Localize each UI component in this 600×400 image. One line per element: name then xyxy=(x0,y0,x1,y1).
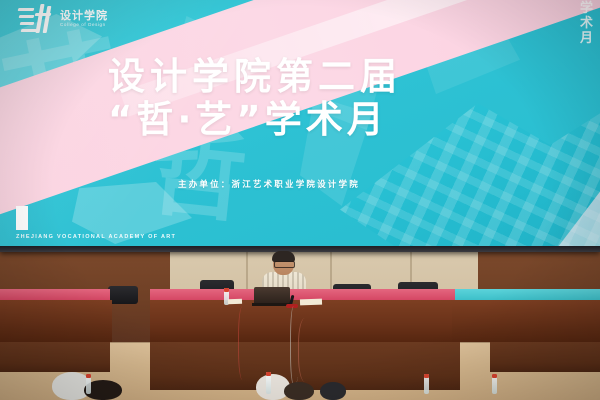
corner-text-line3: 月 xyxy=(580,32,594,47)
water-bottle xyxy=(424,374,429,394)
paper-sheet xyxy=(228,299,242,304)
zhejiang-character-mark-icon xyxy=(18,4,54,34)
slide-subtitle: 主办单位：浙江艺术职业学院设计学院 xyxy=(178,178,360,190)
laptop-screen xyxy=(254,287,290,304)
stage-front-left xyxy=(0,342,110,372)
logo-name-en: College of Design xyxy=(60,22,108,27)
floor-cable xyxy=(238,306,249,380)
headline-line-1: 设计学院第二届 xyxy=(108,58,538,97)
stage-front-right xyxy=(490,342,600,372)
projection-screen: 艺 哲 设计学院 College of Design xyxy=(0,0,600,248)
slide-headline: 设计学院第二届 “哲·艺”学术月 xyxy=(108,58,538,140)
brand-bar-icon xyxy=(16,206,28,230)
glasses-icon xyxy=(274,261,295,268)
logo-name-cn: 设计学院 xyxy=(60,10,108,22)
corner-text-line2: 术 xyxy=(580,17,594,32)
academy-name-en: ZHEJIANG VOCATIONAL ACADEMY OF ART xyxy=(16,234,176,240)
headline-line-2: “哲·艺”学术月 xyxy=(108,101,538,140)
table-right xyxy=(452,300,600,344)
corner-text-line1: 学 xyxy=(580,2,594,17)
photo-scene: 艺 哲 设计学院 College of Design xyxy=(0,0,600,400)
water-bottle xyxy=(266,372,271,394)
college-logo: 设计学院 College of Design xyxy=(18,4,108,34)
paper-sheet xyxy=(300,299,322,306)
laptop xyxy=(252,287,292,306)
projection-screen-frame: 艺 哲 设计学院 College of Design xyxy=(0,0,600,252)
corner-vertical-text: 学 术 月 xyxy=(580,2,594,47)
office-chair xyxy=(108,286,138,304)
academy-brand-block: ZHEJIANG VOCATIONAL ACADEMY OF ART xyxy=(16,206,176,240)
foreground-object xyxy=(320,382,346,400)
water-bottle xyxy=(492,374,497,394)
logo-text: 设计学院 College of Design xyxy=(60,10,108,27)
water-bottle xyxy=(86,374,91,394)
table-left xyxy=(0,300,112,344)
foreground-object xyxy=(284,382,314,400)
floor-cable xyxy=(298,318,315,382)
